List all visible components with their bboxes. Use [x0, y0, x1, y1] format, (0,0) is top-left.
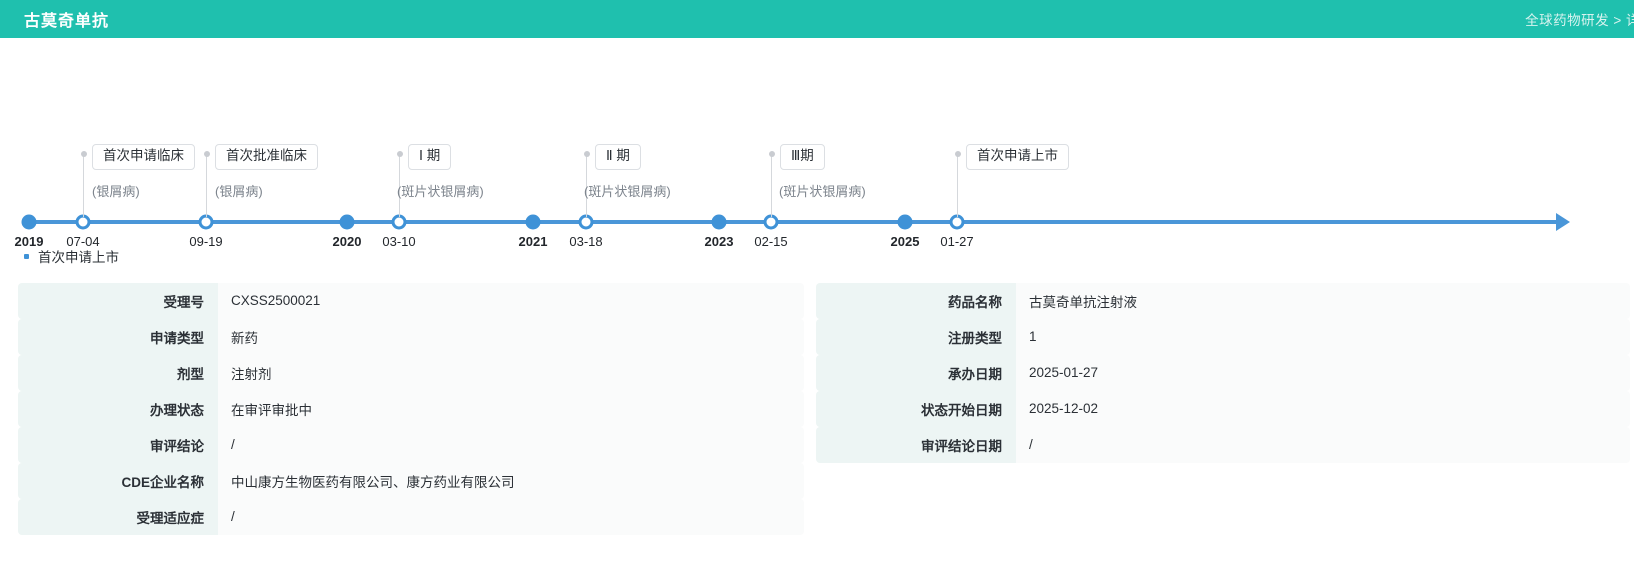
table-row-value: 中山康方生物医药有限公司、康方药业有限公司: [218, 463, 804, 499]
section-title: 首次申请上市: [38, 246, 119, 266]
year-marker-icon: [898, 215, 913, 230]
timeline-event-indication: (银屑病): [92, 181, 140, 200]
timeline-stem: [771, 154, 772, 217]
table-row-value: 在审评审批中: [218, 391, 804, 427]
table-row-label: 审评结论日期: [816, 427, 1016, 463]
timeline-tick-label: 01-27: [940, 234, 973, 249]
timeline-event-indication: (银屑病): [215, 181, 263, 200]
timeline-stem-dot-icon: [81, 151, 87, 157]
table-row-label: 注册类型: [816, 319, 1016, 355]
year-marker-icon: [712, 215, 727, 230]
table-row-value: 2025-01-27: [1016, 355, 1630, 391]
table-row: 剂型注射剂: [18, 355, 804, 391]
table-row-value: 2025-12-02: [1016, 391, 1630, 427]
timeline-node-2021[interactable]: [526, 215, 541, 230]
timeline-node-2025[interactable]: [898, 215, 913, 230]
detail-table-left: 受理号CXSS2500021申请类型新药剂型注射剂办理状态在审评审批中审评结论/…: [18, 283, 804, 535]
bullet-icon: [24, 254, 29, 259]
table-row-value: CXSS2500021: [218, 283, 804, 319]
timeline-tick-label: 02-15: [754, 234, 787, 249]
table-row-label: 剂型: [18, 355, 218, 391]
timeline-event-indication: (斑片状银屑病): [397, 181, 484, 200]
table-row: CDE企业名称中山康方生物医药有限公司、康方药业有限公司: [18, 463, 804, 499]
timeline-tick-label: 2021: [519, 234, 548, 249]
table-row-label: 承办日期: [816, 355, 1016, 391]
section-heading: 首次申请上市: [24, 246, 119, 266]
timeline-event-chip[interactable]: 首次申请上市: [966, 144, 1069, 170]
table-row: 审评结论日期/: [816, 427, 1630, 463]
timeline-tick-label: 03-18: [569, 234, 602, 249]
timeline-stem-dot-icon: [397, 151, 403, 157]
table-row: 办理状态在审评审批中: [18, 391, 804, 427]
table-row: 受理号CXSS2500021: [18, 283, 804, 319]
table-row-label: 办理状态: [18, 391, 218, 427]
app-header: 古莫奇单抗 全球药物研发 > 详: [0, 0, 1634, 38]
table-row-value: /: [218, 499, 804, 535]
timeline-stem: [83, 154, 84, 217]
table-row-label: 申请类型: [18, 319, 218, 355]
timeline-arrow-icon: [1556, 213, 1570, 231]
table-row-label: 审评结论: [18, 427, 218, 463]
table-row-value: 古莫奇单抗注射液: [1016, 283, 1630, 319]
table-row-label: 受理号: [18, 283, 218, 319]
timeline-tick-label: 09-19: [189, 234, 222, 249]
year-marker-icon: [340, 215, 355, 230]
timeline-stem: [957, 154, 958, 217]
timeline-axis-line: [24, 220, 1562, 224]
page-title: 古莫奇单抗: [24, 7, 109, 31]
table-row: 申请类型新药: [18, 319, 804, 355]
timeline-node-2020[interactable]: [340, 215, 355, 230]
timeline-tick-label: 2025: [891, 234, 920, 249]
timeline-tick-label: 03-10: [382, 234, 415, 249]
table-row: 药品名称古莫奇单抗注射液: [816, 283, 1630, 319]
timeline-node-2023[interactable]: [712, 215, 727, 230]
timeline-event-indication: (斑片状银屑病): [584, 181, 671, 200]
detail-table-right: 药品名称古莫奇单抗注射液注册类型1承办日期2025-01-27状态开始日期202…: [816, 283, 1630, 535]
table-row: 审评结论/: [18, 427, 804, 463]
table-row: 状态开始日期2025-12-02: [816, 391, 1630, 427]
timeline-stem-dot-icon: [769, 151, 775, 157]
table-row-label: CDE企业名称: [18, 463, 218, 499]
timeline-tick-label: 2023: [705, 234, 734, 249]
table-row: 承办日期2025-01-27: [816, 355, 1630, 391]
timeline-event-chip[interactable]: Ⅲ期: [780, 144, 825, 170]
timeline-node-2019[interactable]: [22, 215, 37, 230]
year-marker-icon: [526, 215, 541, 230]
timeline-event-chip[interactable]: 首次申请临床: [92, 144, 195, 170]
timeline-stem-dot-icon: [584, 151, 590, 157]
table-row: 注册类型1: [816, 319, 1630, 355]
table-row-value: 新药: [218, 319, 804, 355]
timeline-stem-dot-icon: [204, 151, 210, 157]
table-row-label: 受理适应症: [18, 499, 218, 535]
development-timeline: 201907-0409-19202003-10202103-18202302-1…: [0, 38, 1634, 233]
table-row: 受理适应症/: [18, 499, 804, 535]
table-row-value: /: [218, 427, 804, 463]
timeline-event-chip[interactable]: Ⅱ 期: [595, 144, 641, 170]
detail-tables: 受理号CXSS2500021申请类型新药剂型注射剂办理状态在审评审批中审评结论/…: [18, 283, 1634, 535]
table-row-label: 状态开始日期: [816, 391, 1016, 427]
timeline-stem-dot-icon: [955, 151, 961, 157]
table-row-value: /: [1016, 427, 1630, 463]
timeline-stem: [206, 154, 207, 217]
timeline-event-chip[interactable]: 首次批准临床: [215, 144, 318, 170]
timeline-event-chip[interactable]: Ⅰ 期: [408, 144, 451, 170]
timeline-tick-label: 2020: [333, 234, 362, 249]
table-row-value: 1: [1016, 319, 1630, 355]
year-marker-icon: [22, 215, 37, 230]
table-row-value: 注射剂: [218, 355, 804, 391]
breadcrumb[interactable]: 全球药物研发 > 详: [1525, 9, 1634, 29]
table-row-label: 药品名称: [816, 283, 1016, 319]
timeline-event-indication: (斑片状银屑病): [779, 181, 866, 200]
